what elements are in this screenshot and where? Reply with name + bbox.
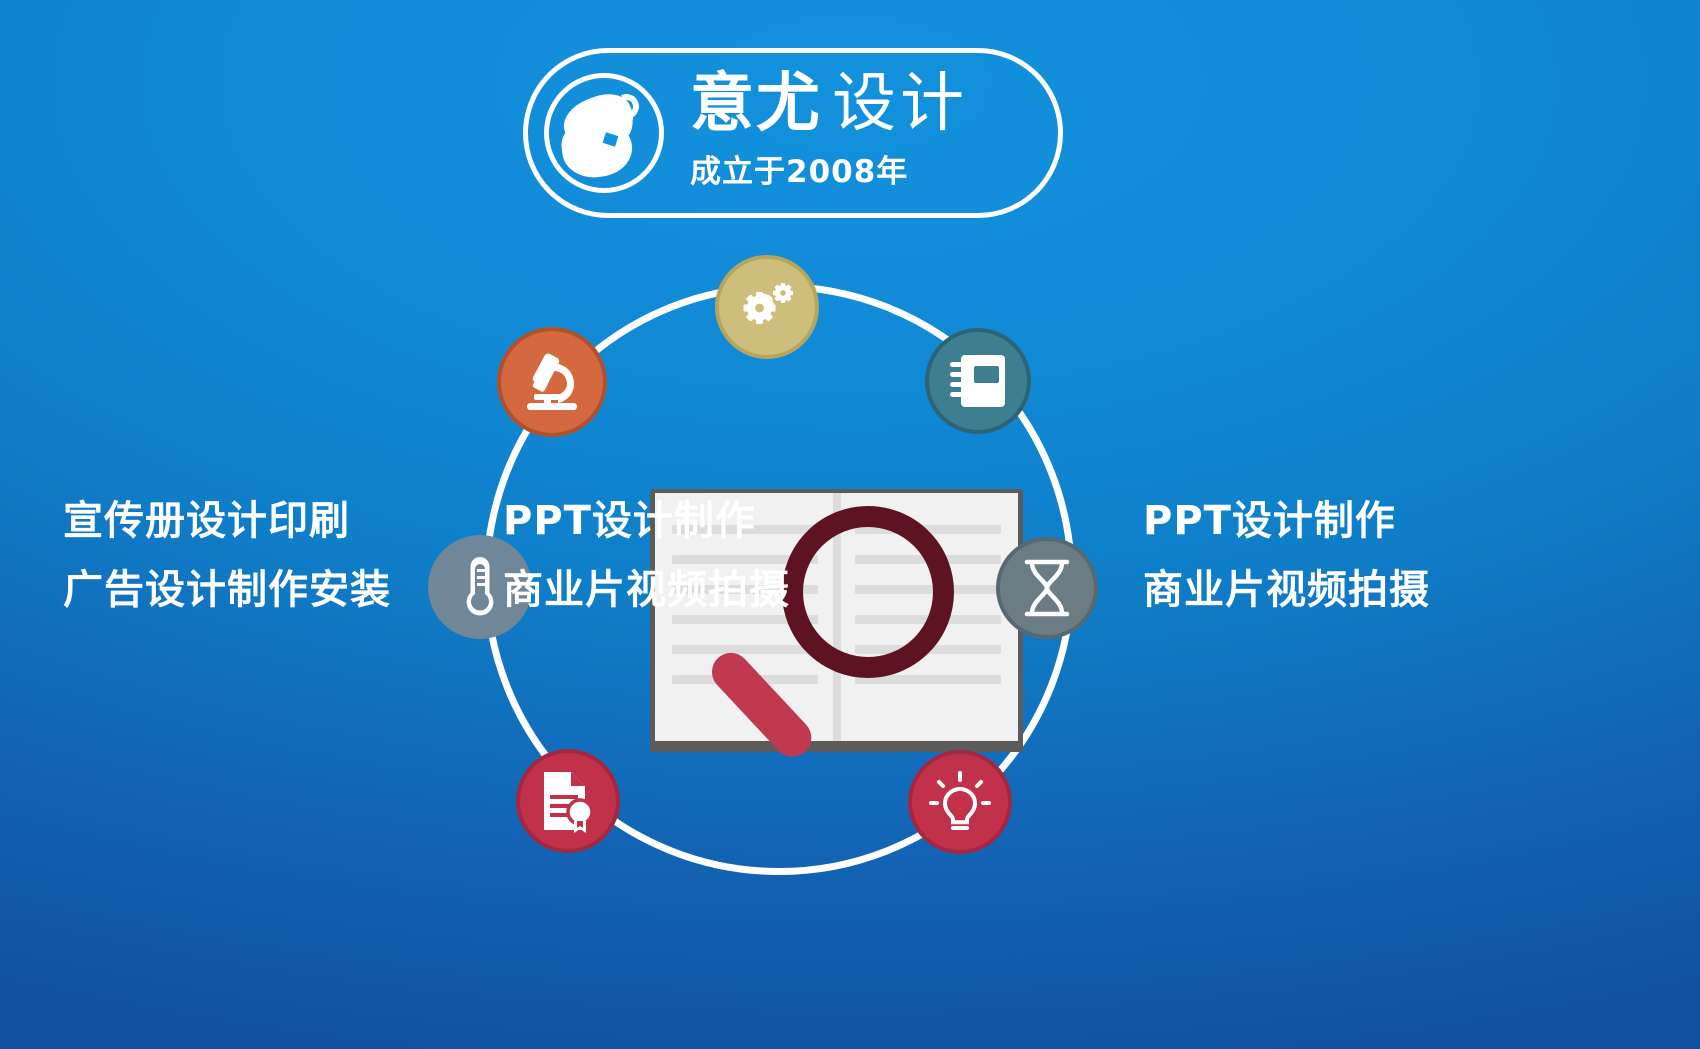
bird-leaf-mark-icon: [544, 73, 664, 193]
text-right-line2: 商业片视频拍摄: [1143, 556, 1430, 625]
text-center-line2: 商业片视频拍摄: [503, 556, 790, 625]
logo-tagline: 成立于2008年: [690, 146, 968, 191]
node-gear[interactable]: [715, 255, 819, 359]
logo-name-thin: 设计: [832, 72, 968, 136]
text-center-line1: PPT设计制作: [503, 487, 790, 556]
logo-text: 意尤 设计 成立于2008年: [690, 72, 968, 195]
microscope-icon: [518, 350, 586, 414]
text-right-line1: PPT设计制作: [1143, 487, 1430, 556]
node-microscope[interactable]: [497, 327, 607, 437]
text-left-line1: 宣传册设计印刷: [63, 487, 391, 556]
node-notebook[interactable]: [925, 328, 1031, 434]
slide-canvas: 意尤 设计 成立于2008年: [0, 0, 1700, 1049]
logo-name-bold: 意尤: [690, 72, 822, 136]
hourglass-icon: [1020, 557, 1074, 619]
notebook-icon: [947, 350, 1009, 412]
text-left-line2: 广告设计制作安装: [63, 556, 391, 625]
text-block-right: PPT设计制作 商业片视频拍摄: [1143, 487, 1430, 625]
node-certificate[interactable]: [516, 749, 620, 853]
text-block-left: 宣传册设计印刷 广告设计制作安装: [63, 487, 391, 625]
node-hourglass[interactable]: [996, 537, 1098, 639]
thermometer-icon: [463, 555, 497, 619]
gears-icon: [732, 277, 802, 337]
text-block-center: PPT设计制作 商业片视频拍摄: [503, 487, 790, 625]
logo-lockup: 意尤 设计 成立于2008年: [523, 48, 1063, 218]
certificate-icon: [538, 769, 598, 833]
